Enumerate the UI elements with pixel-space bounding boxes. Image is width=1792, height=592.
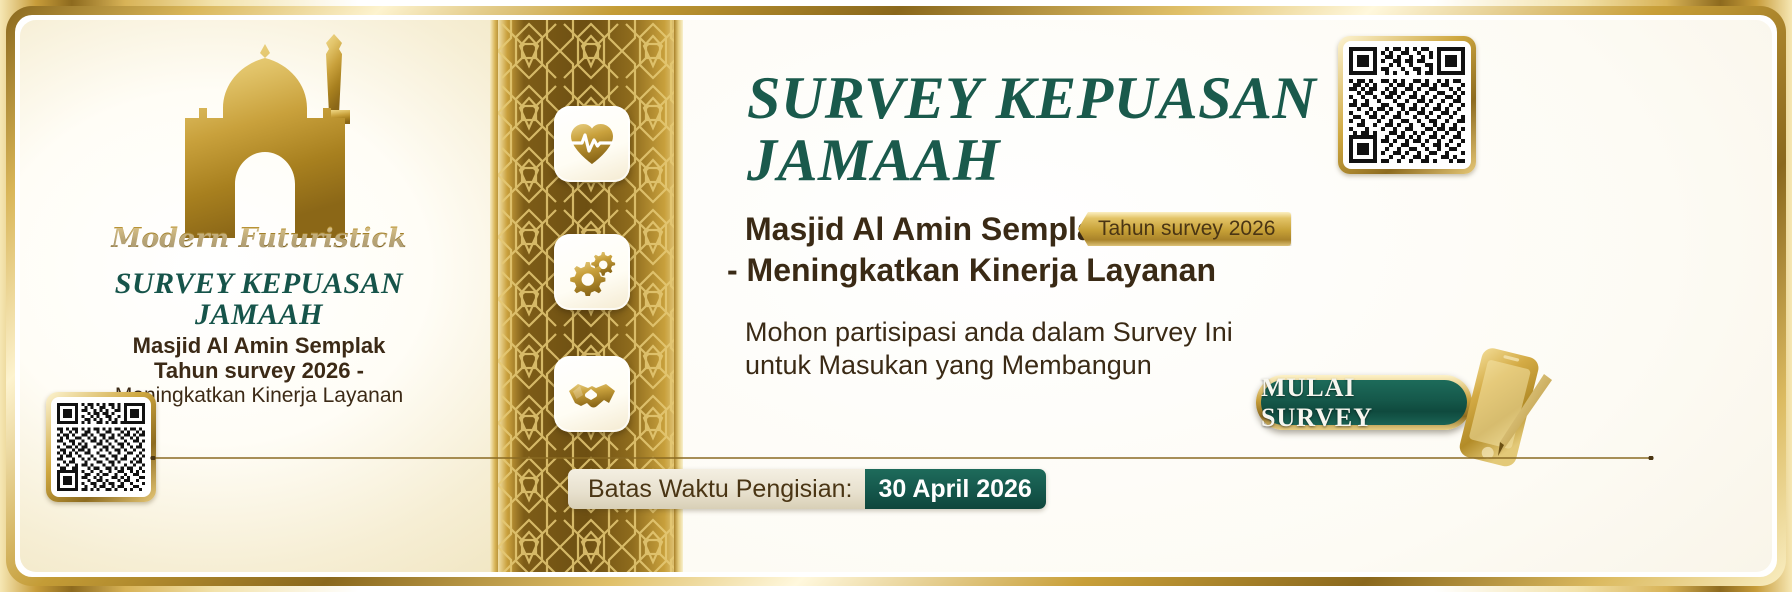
left-title-line-1: SURVEY KEPUASAN — [20, 268, 498, 299]
deadline-bar: Batas Waktu Pengisian: 30 April 2026 — [568, 469, 1046, 509]
left-panel-title: SURVEY KEPUASAN JAMAAH — [20, 268, 498, 330]
sidebar-item-kemitraan[interactable] — [554, 356, 630, 432]
banner-inner-surface: Modern Futuristick SURVEY KEPUASAN JAMAA… — [20, 20, 1772, 572]
left-title-line-2: JAMAAH — [20, 299, 498, 330]
sidebar-item-kesehatan[interactable] — [554, 106, 630, 182]
qr-code-left[interactable] — [46, 392, 156, 502]
qr-code-icon — [1349, 47, 1465, 163]
deadline-label: Batas Waktu Pengisian: — [568, 469, 865, 509]
mulai-survey-button[interactable]: MULAI SURVEY — [1256, 375, 1472, 430]
deadline-value: 30 April 2026 — [865, 469, 1046, 509]
left-sub-line-2: Tahun survey 2026 - — [20, 358, 498, 383]
invitation-line-2: untuk Masukan yang Membangun — [745, 349, 1233, 382]
subtitle-line-1: Masjid Al Amin Semplak — [745, 210, 1113, 248]
decorative-connector-line — [147, 456, 1657, 460]
page-title: SURVEY KEPUASAN JAMAAH — [747, 67, 1367, 191]
status-badge-survey-year: Tahun survey 2026 — [1078, 212, 1291, 246]
handshake-icon — [567, 369, 617, 419]
qr-code-right-inner — [1343, 41, 1471, 169]
survey-banner: Modern Futuristick SURVEY KEPUASAN JAMAA… — [0, 0, 1792, 592]
left-panel-gold-divider — [490, 20, 498, 572]
qr-code-right[interactable] — [1338, 36, 1476, 174]
page-title-line-1: SURVEY KEPUASAN — [747, 67, 1367, 129]
year-badge-label: Tahun survey 2026 — [1098, 217, 1275, 241]
gears-icon — [568, 248, 616, 296]
left-identity-panel: Modern Futuristick SURVEY KEPUASAN JAMAA… — [20, 20, 498, 572]
phone-with-stylus-icon — [1448, 346, 1556, 470]
mulai-survey-label: MULAI SURVEY — [1261, 373, 1467, 433]
qr-code-left-inner — [51, 397, 151, 497]
qr-code-icon — [57, 403, 145, 491]
left-sub-line-1: Masjid Al Amin Semplak — [20, 333, 498, 358]
heartbeat-heart-icon — [568, 120, 616, 168]
subtitle-line-2: - Meningkatkan Kinerja Layanan — [727, 251, 1216, 289]
brand-script-text: Modern Futuristick — [20, 223, 498, 254]
sidebar-item-operasional[interactable] — [554, 234, 630, 310]
invitation-text: Mohon partisipasi anda dalam Survey Ini … — [745, 316, 1233, 382]
mosque-icon — [130, 28, 400, 238]
page-title-line-2: JAMAAH — [747, 129, 1367, 191]
invitation-line-1: Mohon partisipasi anda dalam Survey Ini — [745, 316, 1233, 349]
